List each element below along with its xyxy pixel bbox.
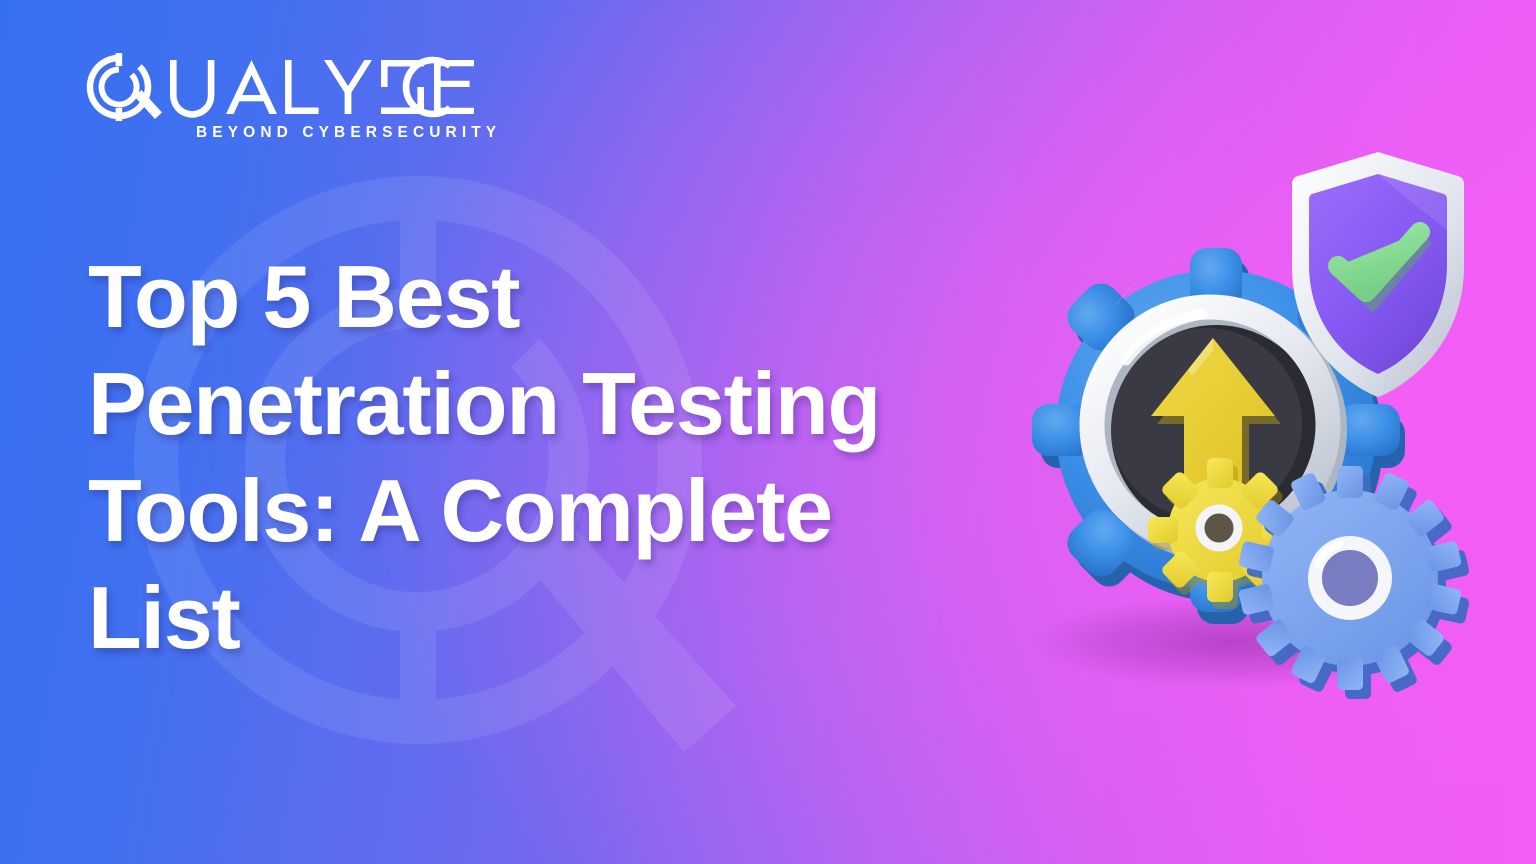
headline-line-3: Tools: A Complete [88,457,1068,564]
banner-root: BEYOND CYBERSECURITY Top 5 Best Penetrat… [0,0,1536,864]
logo-tagline: BEYOND CYBERSECURITY [196,124,501,142]
headline-line-1: Top 5 Best [88,243,1068,350]
security-gears-shield-illustration [1020,130,1520,710]
page-title: Top 5 Best Penetration Testing Tools: A … [88,243,1068,671]
qualysec-wordmark-icon [86,52,478,122]
headline-line-4: List [88,564,1068,671]
qualysec-logo[interactable]: BEYOND CYBERSECURITY [86,52,478,144]
headline-line-2: Penetration Testing [88,350,1068,457]
